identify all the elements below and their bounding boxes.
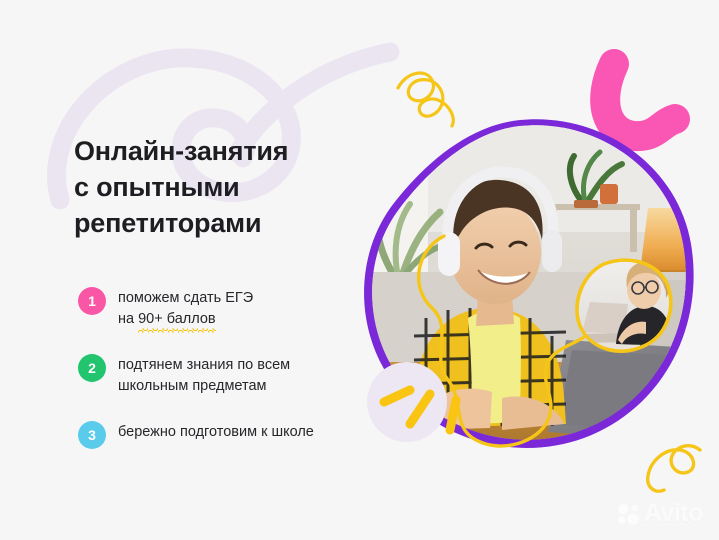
benefit-highlight-1: 90+ баллов [138,309,216,330]
ad-banner: Онлайн-занятия с опытными репетиторами 1… [0,0,719,540]
photo-composition [352,112,702,457]
benefit-number-badge-1: 1 [78,287,106,315]
list-item: 1 поможем сдать ЕГЭ на 90+ баллов [78,286,378,329]
list-item: 3 бережно подготовим к школе [78,420,378,449]
benefit-text-3: бережно подготовим к школе [118,420,314,443]
list-item: 2 подтянем знания по всем школьным предм… [78,353,378,396]
avito-watermark: Avito [617,499,703,528]
lavender-circle-decoration [367,362,447,442]
benefit-text-2: подтянем знания по всем школьным предмет… [118,353,290,396]
avito-dots-icon [617,503,641,525]
benefits-list: 1 поможем сдать ЕГЭ на 90+ баллов 2 подт… [78,286,378,449]
benefit-number-badge-2: 2 [78,354,106,382]
avito-watermark-label: Avito [644,499,703,528]
photo-composition-svg [352,112,702,457]
benefit-text-1: поможем сдать ЕГЭ на 90+ баллов [118,286,253,329]
benefit-number-badge-3: 3 [78,421,106,449]
